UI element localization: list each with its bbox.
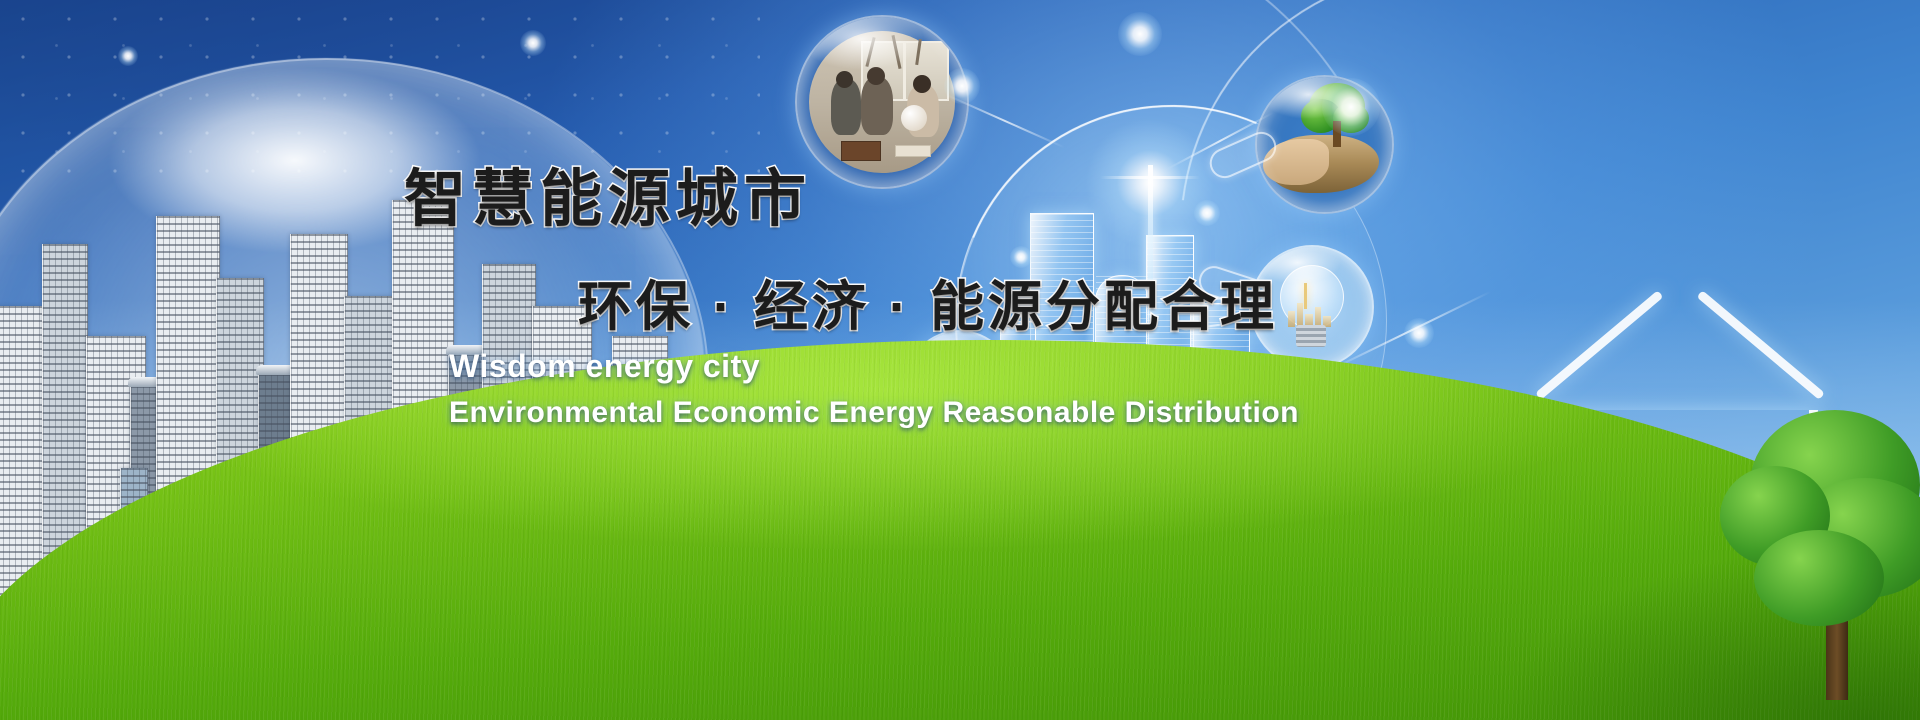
smart-energy-city-banner: 智慧能源城市 环保 · 经济 · 能源分配合理 Wisdom energy ci…: [0, 0, 1920, 720]
headline-english: Wisdom energy city: [449, 348, 760, 385]
subhead-chinese: 环保 · 经济 · 能源分配合理: [578, 262, 1278, 341]
banner-text-block: 智慧能源城市 环保 · 经济 · 能源分配合理 Wisdom energy ci…: [0, 0, 1920, 720]
subhead-english: Environmental Economic Energy Reasonable…: [449, 396, 1299, 430]
headline-chinese: 智慧能源城市: [404, 148, 812, 238]
